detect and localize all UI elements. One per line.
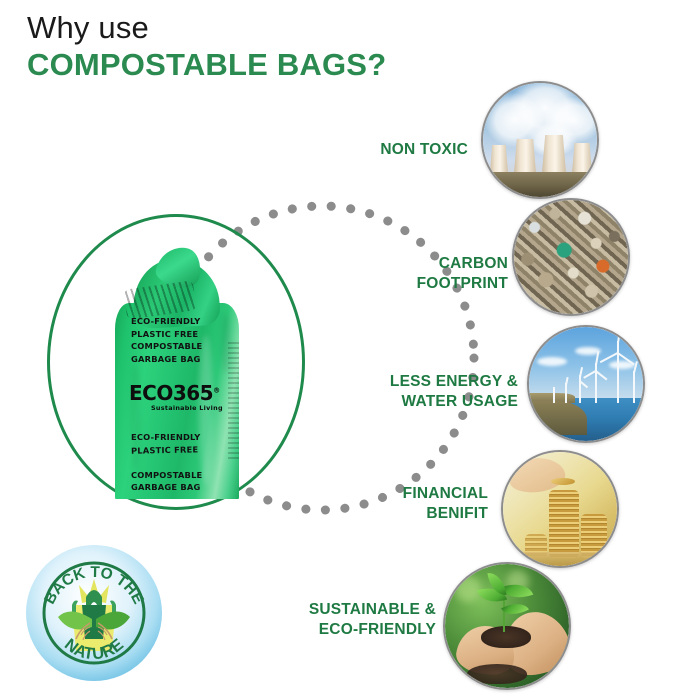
title-line-2: COMPOSTABLE BAGS?	[27, 47, 467, 84]
landfill-photo	[512, 198, 630, 316]
power-plant-photo	[481, 81, 599, 199]
eco365-logo-wordmark: ECO365®	[129, 383, 223, 403]
eco365-logo-text: ECO365	[129, 381, 213, 405]
benefit-label-line: FINANCIAL	[336, 484, 488, 504]
registered-trademark-icon: ®	[213, 386, 220, 394]
bag-top-line-2: PLASTIC FREE	[131, 329, 198, 339]
bag-print-text-top: ECO-FRIENDLY PLASTIC FREE COMPOSTABLE GA…	[131, 315, 202, 365]
eco365-logo: ECO365® Sustainable Living	[129, 383, 223, 412]
bag-top-line-4: GARBAGE BAG	[131, 354, 201, 364]
benefit-label-line: NON TOXIC	[320, 140, 468, 160]
benefit-label-financial-benefit: FINANCIAL BENIFIT	[336, 484, 488, 523]
title-line-1: Why use	[27, 10, 467, 47]
benefit-label-line: FOOTPRINT	[340, 274, 508, 294]
benefit-label-sustainable: SUSTAINABLE & ECO-FRIENDLY	[258, 600, 436, 639]
coins-photo	[501, 450, 619, 568]
seedling-hands-photo	[443, 562, 571, 690]
bag-side-print-strip	[228, 339, 239, 459]
compostable-bag-product-image: ECO-FRIENDLY PLASTIC FREE COMPOSTABLE GA…	[103, 243, 251, 499]
benefit-label-line: CARBON	[340, 254, 508, 274]
back-to-nature-badge: BACK TO THE NATURE	[24, 543, 164, 683]
bag-top-line-1: ECO-FRIENDLY	[131, 316, 200, 326]
page-title: Why use COMPOSTABLE BAGS?	[27, 10, 467, 83]
benefit-label-line: BENIFIT	[336, 504, 488, 524]
bag-bottom-line-4: GARBAGE BAG	[131, 482, 201, 492]
benefit-label-less-energy: LESS ENERGY & WATER USAGE	[330, 372, 518, 411]
benefit-label-carbon-footprint: CARBON FOOTPRINT	[340, 254, 508, 293]
benefit-label-line: LESS ENERGY &	[330, 372, 518, 392]
bag-print-text-bottom: ECO-FRIENDLY PLASTIC FREE COMPOSTABLE GA…	[131, 431, 202, 494]
benefit-label-line: ECO-FRIENDLY	[258, 620, 436, 640]
benefit-label-line: SUSTAINABLE &	[258, 600, 436, 620]
bag-bottom-line-2: PLASTIC FREE	[131, 443, 203, 457]
wind-turbines-photo	[527, 325, 645, 443]
bag-top-line-3: COMPOSTABLE	[131, 341, 202, 351]
bag-bottom-line-3: COMPOSTABLE	[131, 470, 202, 480]
benefit-label-line: WATER USAGE	[330, 392, 518, 412]
benefit-label-non-toxic: NON TOXIC	[320, 140, 468, 160]
eco365-logo-tagline: Sustainable Living	[151, 404, 223, 412]
bag-bottom-line-1: ECO-FRIENDLY	[131, 432, 200, 442]
infographic-canvas: Why use COMPOSTABLE BAGS? ECO-FRIENDLY P…	[0, 0, 700, 700]
